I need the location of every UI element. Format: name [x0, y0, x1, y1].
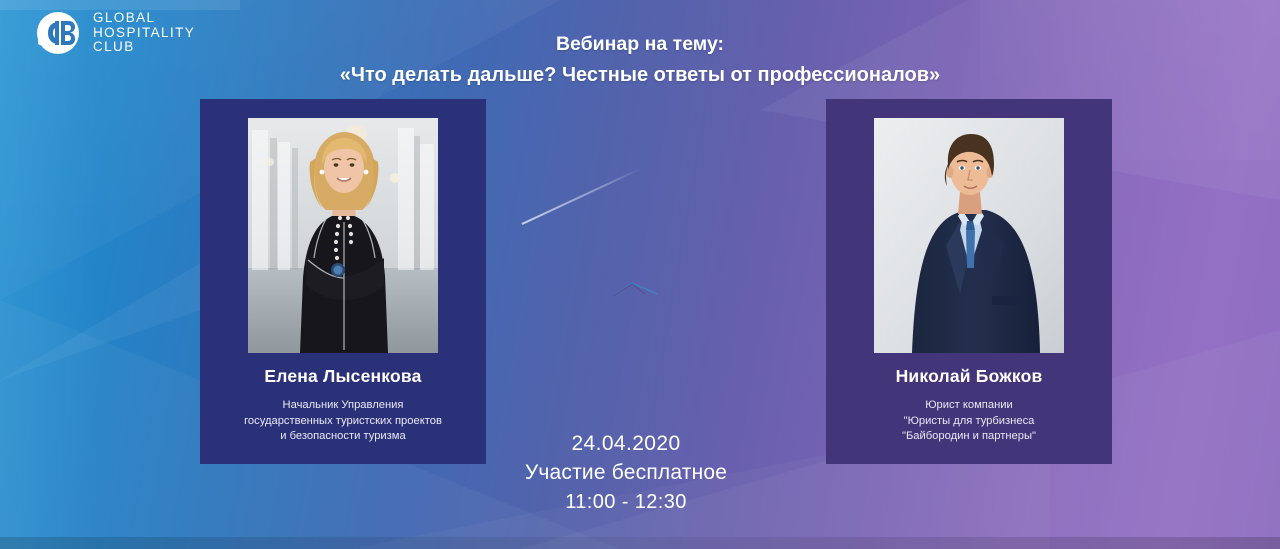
speaker-role-line-2: "Юристы для турбизнеса: [844, 414, 1094, 430]
event-date: 24.04.2020: [426, 430, 826, 458]
headline-line-1: Вебинар на тему:: [0, 29, 1280, 60]
event-info: 24.04.2020 Участие бесплатное 11:00 - 12…: [426, 430, 826, 517]
bg-bottom-shade: [0, 537, 1280, 549]
webinar-announcement-banner: GLOBAL HOSPITALITY CLUB Вебинар на тему:…: [0, 0, 1280, 549]
page-title: Вебинар на тему: «Что делать дальше? Чес…: [0, 29, 1280, 91]
event-price: Участие бесплатное: [426, 458, 826, 488]
speaker-role: Юрист компании "Юристы для турбизнеса "Б…: [844, 398, 1094, 445]
avatar: [874, 118, 1064, 353]
faint-chevron-icon: [612, 281, 658, 297]
brand-line-1: GLOBAL: [93, 11, 195, 26]
speaker-name: Елена Лысенкова: [218, 366, 468, 387]
portrait-nikolay-bozhkov-image: [874, 118, 1064, 353]
avatar: [248, 118, 438, 353]
speaker-role-line-3: "Байбородин и партнеры": [844, 429, 1094, 445]
speaker-role-line-1: Юрист компании: [844, 398, 1094, 414]
plane-contrail-streak-icon: [522, 168, 641, 225]
headline-line-2: «Что делать дальше? Честные ответы от пр…: [0, 60, 1280, 91]
portrait-elena-lysenkova-image: [248, 118, 438, 353]
speaker-role-line-2: государственных туристских проектов: [218, 414, 468, 430]
speaker-name: Николай Божков: [844, 366, 1094, 387]
speaker-role-line-1: Начальник Управления: [218, 398, 468, 414]
speaker-card-nikolay-bozhkov: Николай Божков Юрист компании "Юристы дл…: [826, 99, 1112, 464]
speaker-card-elena-lysenkova: Елена Лысенкова Начальник Управления гос…: [200, 99, 486, 464]
event-time: 11:00 - 12:30: [426, 488, 826, 517]
